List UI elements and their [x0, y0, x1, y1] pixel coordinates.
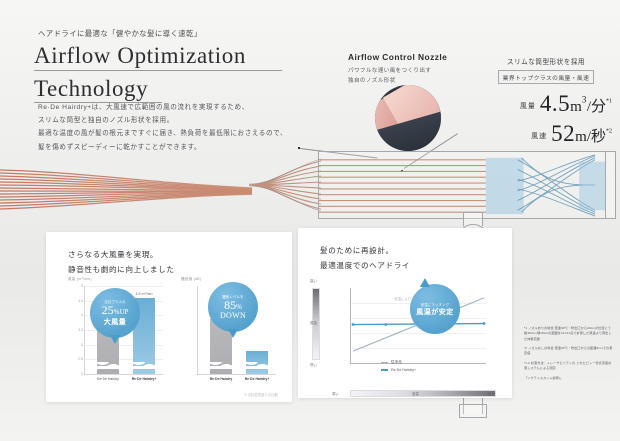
chart-airflow-ytick-6: 0: [81, 372, 83, 376]
spec-value-airflow: 4.5m3/分*1: [540, 92, 612, 115]
chart-airflow-bar-baseline-label: Re·De Hairdry: [97, 377, 119, 381]
callout-noise-number: 85: [224, 298, 236, 312]
chart-noise-bar-new-label: Re·De Hairdry+: [245, 377, 270, 381]
page-title: Airflow Optimization Technology: [34, 40, 246, 105]
callout-bubble-noise: 騒音レベルを 85% DOWN: [208, 282, 258, 332]
temperature-x-mid: 室温: [412, 391, 419, 396]
panel-left-title-line1: さらなる大風量を実現。: [68, 248, 175, 263]
chart-airflow-ytick-5: 2.5: [78, 357, 83, 361]
handle-foot: [459, 404, 487, 418]
temperature-y-high: 高い: [310, 278, 317, 283]
legend-item-conventional: 従来品: [381, 360, 416, 365]
footnote-1: *1 ノズルありの場合 室温30℃・吹出口から20cmの位置にて縦15cm×横1…: [524, 326, 614, 342]
callout-temperature-sub: 風温が安定: [416, 307, 454, 317]
hero-kicker: ヘアドライに最適な「健やかな髪に導く速乾」: [38, 28, 202, 39]
legend-label-rede: Re·De Hairdry+: [391, 368, 416, 372]
page-title-line1: Airflow Optimization: [34, 40, 246, 73]
spec-badge: 業界トップクラスの風量・風速: [498, 70, 595, 84]
callout-noise-big: 85%: [224, 299, 242, 312]
panel-right-title: 髪のために再設計。 最適温度でのヘアドライ: [320, 244, 410, 274]
panel-right-title-line2: 最適温度でのヘアドライ: [320, 259, 410, 274]
chart-airflow-ylabel: 風量 (m³/min): [68, 277, 92, 282]
spec-unit-airflow: m: [570, 99, 582, 115]
hero-body-line-3: 最適な温度の風が髪の根元まですぐに届き、熱負荷を最低限におさえるので、: [38, 127, 287, 140]
callout-airflow-top: 当社プラスの: [104, 299, 125, 304]
footnote-2: *2 ノズルなしの場合 室温30℃・吹出口からの距離3cmでの測定値: [524, 346, 614, 357]
temperature-x-high: 暑い: [488, 391, 495, 396]
spec-block: スリムな筒型形状を採用 業界トップクラスの風量・風速 風量 4.5m3/分*1 …: [480, 56, 612, 145]
chart-noise-bar-new: Re·De Hairdry+: [246, 351, 268, 374]
chart-airflow-ytick-0: 5: [81, 284, 83, 288]
nozzle-title: Airflow Control Nozzle: [348, 52, 478, 62]
footnotes: *1 ノズルありの場合 室温30℃・吹出口から20cmの位置にて縦15cm×横1…: [524, 326, 614, 386]
callout-airflow-big: 25%UP: [102, 304, 129, 317]
chart-temperature-legend: 従来品 Re·De Hairdry+: [381, 360, 416, 375]
callout-bubble-airflow: 当社プラスの 25%UP 大風量: [90, 288, 140, 338]
panel-left-note: ※当社従来品との比較: [244, 392, 278, 397]
callout-noise-sub: DOWN: [220, 311, 246, 320]
chart-airflow-ytick-4: 3: [81, 343, 83, 347]
dryer-inlet-flow: [249, 158, 321, 212]
hair-stream-illustration: [0, 168, 252, 212]
chart-airflow-ytick-3: 3.5: [78, 328, 83, 332]
spec-row-airflow: 風量 4.5m3/分*1: [480, 92, 612, 115]
legend-swatch-conventional: [381, 362, 388, 363]
callout-airflow-number: 25: [102, 303, 114, 317]
dryer-illustration: [246, 142, 616, 228]
footnote-3: *1,2 計測方法：トレーサビリティの とれたピトー管式流速計測システムによる測…: [524, 361, 614, 372]
chart-airflow-bar-new-value: 4.5 m³/min: [136, 292, 153, 296]
page-root: ヘアドライに最適な「健やかな髪に導く速乾」 Airflow Optimizati…: [0, 0, 620, 441]
temperature-y-low: 低い: [310, 362, 317, 367]
chart-airflow-ytick-1: 4.5: [78, 299, 83, 303]
dryer-internal-airflow: [319, 152, 605, 218]
panel-left-title: さらなる大風量を実現。 静音性も劇的に向上しました: [68, 248, 175, 278]
legend-swatch-rede: [381, 369, 388, 370]
callout-airflow-sub: 大風量: [104, 317, 127, 327]
dryer-outlet-cap: [605, 151, 616, 219]
callout-airflow-pct: %UP: [114, 308, 129, 316]
nozzle-callout: Airflow Control Nozzle パワフルな速い風をつくり出す 独自…: [348, 52, 478, 87]
temperature-y-label: 風温: [310, 320, 317, 325]
spec-unit2-airflow: /分: [587, 99, 606, 115]
spec-note-windspeed: *2: [606, 128, 612, 134]
legend-label-conventional: 従来品: [391, 360, 402, 365]
chart-airflow-bar-new-label: Re·De Hairdry+: [132, 377, 157, 381]
callout-bubble-temperature: 室温にマッチング 風温が安定: [410, 284, 460, 334]
hero-body-line-2: スリムな筒型と独自のノズル形状を採用。: [38, 114, 287, 127]
callout-noise-pct: %: [236, 303, 242, 311]
nozzle-subtitle: パワフルな速い風をつくり出す 独自のノズル形状: [348, 66, 478, 87]
footnote-4: 「ソクテイスカイ+(仮称)」: [524, 376, 614, 381]
panel-temperature: 髪のために再設計。 最適温度でのヘアドライ 高い 低い 風温 室温により、風温が…: [298, 228, 512, 398]
spec-label-airflow: 風量: [520, 101, 536, 115]
legend-item-rede: Re·De Hairdry+: [381, 368, 416, 372]
spec-heading: スリムな筒型形状を採用: [480, 56, 612, 66]
panel-left-title-line2: 静音性も劇的に向上しました: [68, 263, 175, 278]
temperature-x-low: 寒い: [332, 391, 339, 396]
chart-airflow-ytick-2: 4: [81, 313, 83, 317]
panel-airflow-noise: さらなる大風量を実現。 静音性も劇的に向上しました 風量 (m³/min) 5 …: [46, 232, 292, 402]
temperature-x-gradient: [350, 390, 496, 397]
nozzle-subtitle-line1: パワフルな速い風をつくり出す: [348, 66, 478, 76]
panel-right-title-line1: 髪のために再設計。: [320, 244, 410, 259]
callout-noise-top: 騒音レベルを: [222, 294, 244, 299]
dryer-barrel: [318, 151, 606, 219]
chart-noise-bar-baseline-label: Re·De Hairdry: [210, 377, 233, 381]
callout-temperature-top: 室温にマッチング: [421, 302, 450, 307]
hero-body-line-1: Re·De Hairdry+は、大風速で広範囲の風の流れを実現するため、: [38, 101, 287, 114]
spec-number-airflow: 4.5: [540, 91, 570, 116]
chart-noise-ylabel: 騒音値 (dB): [181, 277, 201, 282]
spec-note-airflow: *1: [606, 98, 612, 104]
